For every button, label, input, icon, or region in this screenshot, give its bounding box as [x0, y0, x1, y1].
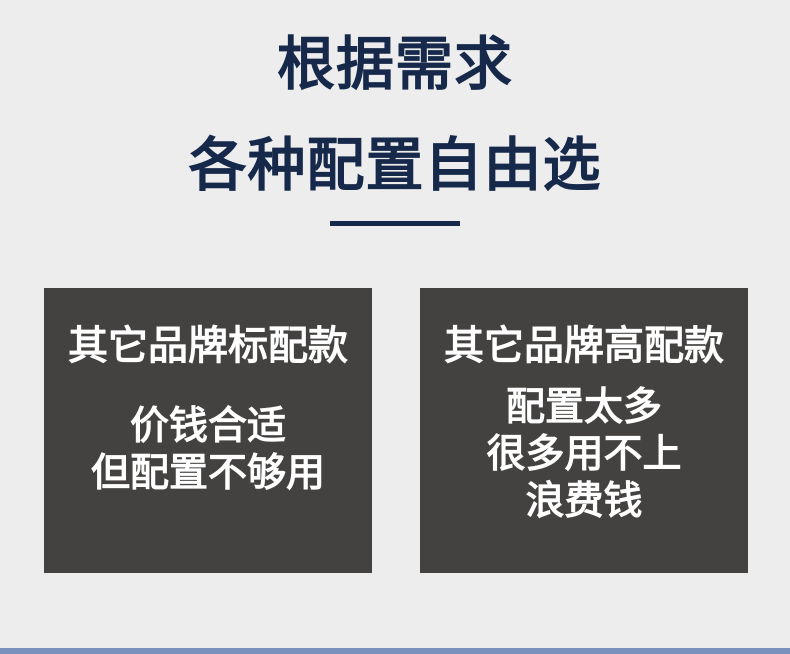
comparison-cards: 其它品牌标配款 价钱合适 但配置不够用 其它品牌高配款 配置太多 很多用不上 浪… [44, 288, 748, 573]
card-body-line: 浪费钱 [486, 478, 681, 525]
heading-block: 根据需求 各种配置自由选 [0, 0, 790, 239]
divider-wrapper [0, 199, 790, 239]
bottom-accent-band [0, 648, 790, 654]
card-body-line: 配置太多 [486, 384, 681, 431]
heading-divider [330, 221, 460, 226]
card-body-line: 价钱合适 [91, 403, 325, 450]
card-title: 其它品牌高配款 [444, 288, 724, 368]
card-body: 配置太多 很多用不上 浪费钱 [486, 384, 681, 525]
card-body: 价钱合适 但配置不够用 [91, 403, 325, 497]
headline-line-2: 各种配置自由选 [0, 98, 790, 199]
card-body-line: 很多用不上 [486, 431, 681, 478]
card-title: 其它品牌标配款 [68, 288, 348, 368]
promo-banner: 根据需求 各种配置自由选 其它品牌标配款 价钱合适 但配置不够用 其它品牌高配款… [0, 0, 790, 654]
card-body-line: 但配置不够用 [91, 450, 325, 497]
card-standard-config: 其它品牌标配款 价钱合适 但配置不够用 [44, 288, 372, 573]
card-high-config: 其它品牌高配款 配置太多 很多用不上 浪费钱 [420, 288, 748, 573]
headline-line-1: 根据需求 [0, 0, 790, 98]
